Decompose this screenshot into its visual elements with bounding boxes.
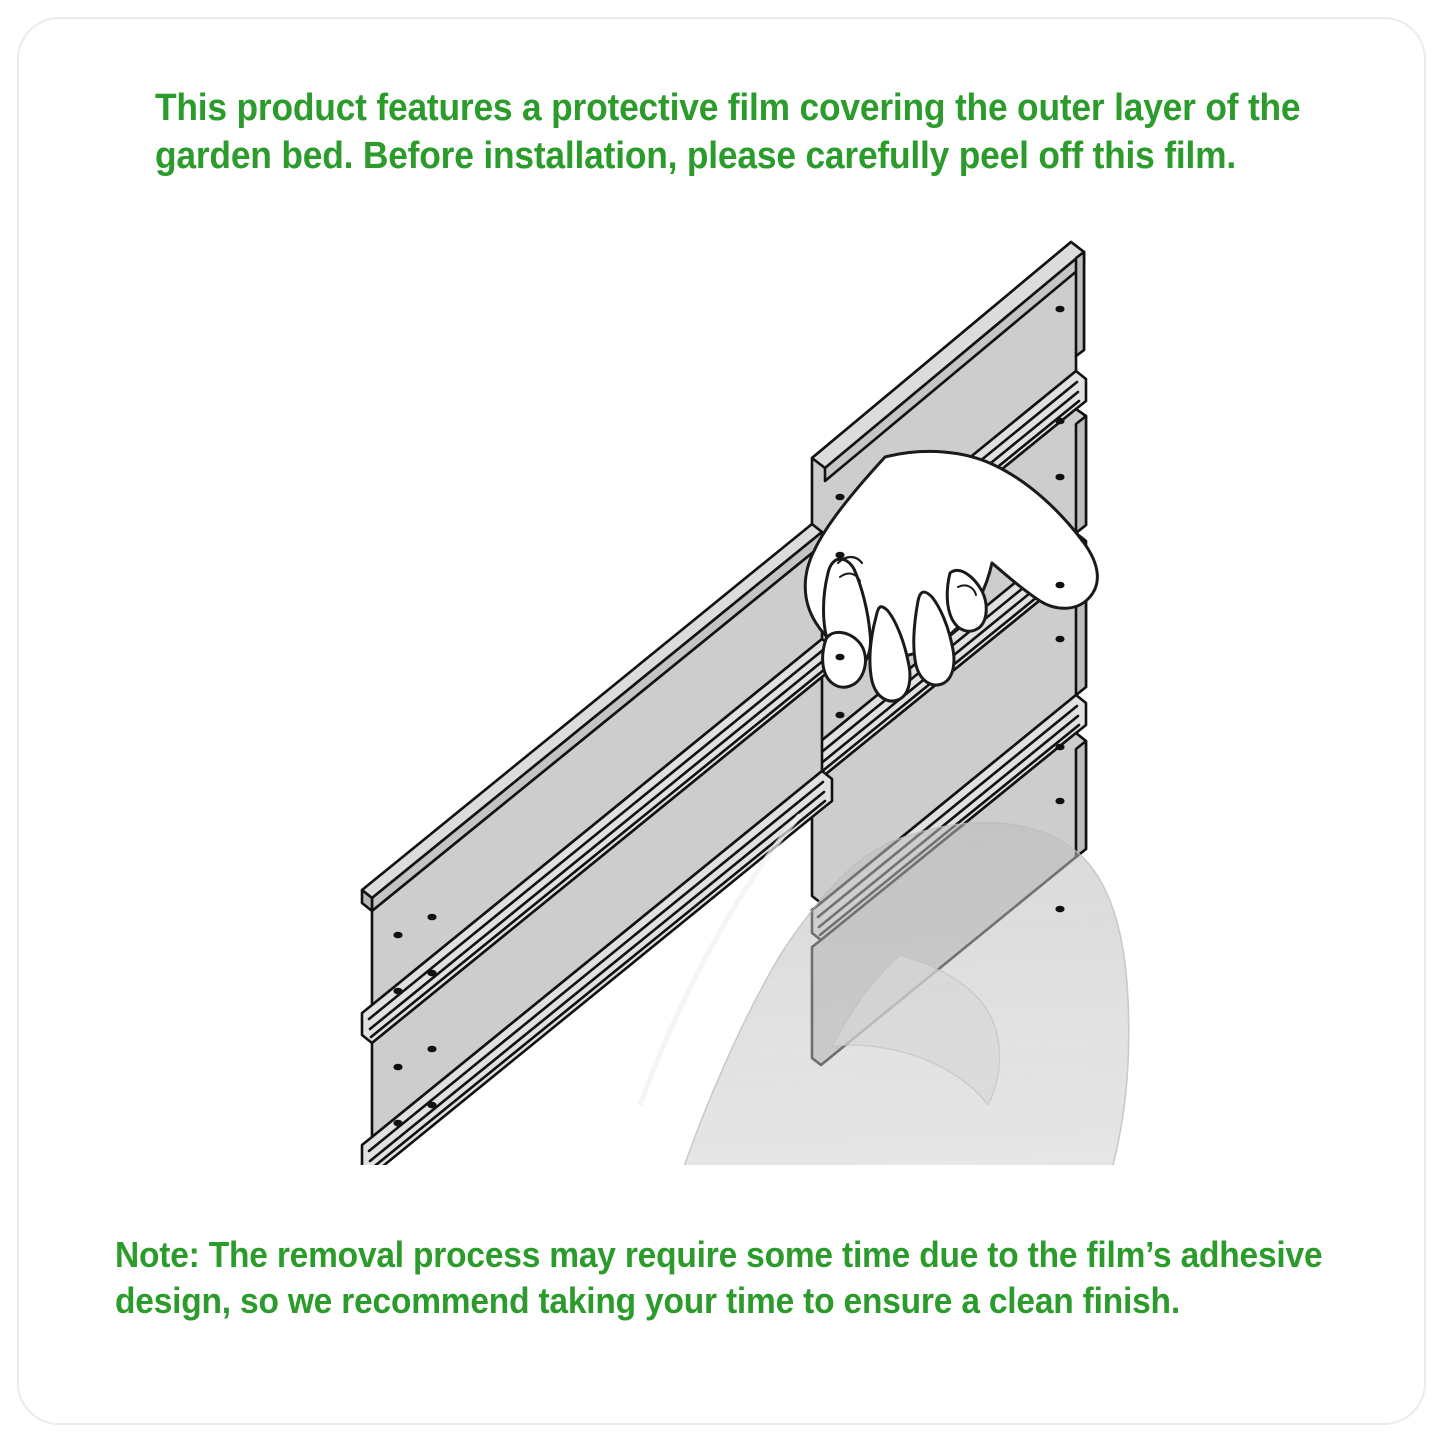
- note-instruction-text: Note: The removal process may require so…: [115, 1232, 1333, 1324]
- garden-bed-peel-film-illustration: [340, 225, 1130, 1165]
- intro-instruction-text: This product features a protective film …: [155, 84, 1318, 180]
- instruction-card-page: This product features a protective film …: [0, 0, 1445, 1444]
